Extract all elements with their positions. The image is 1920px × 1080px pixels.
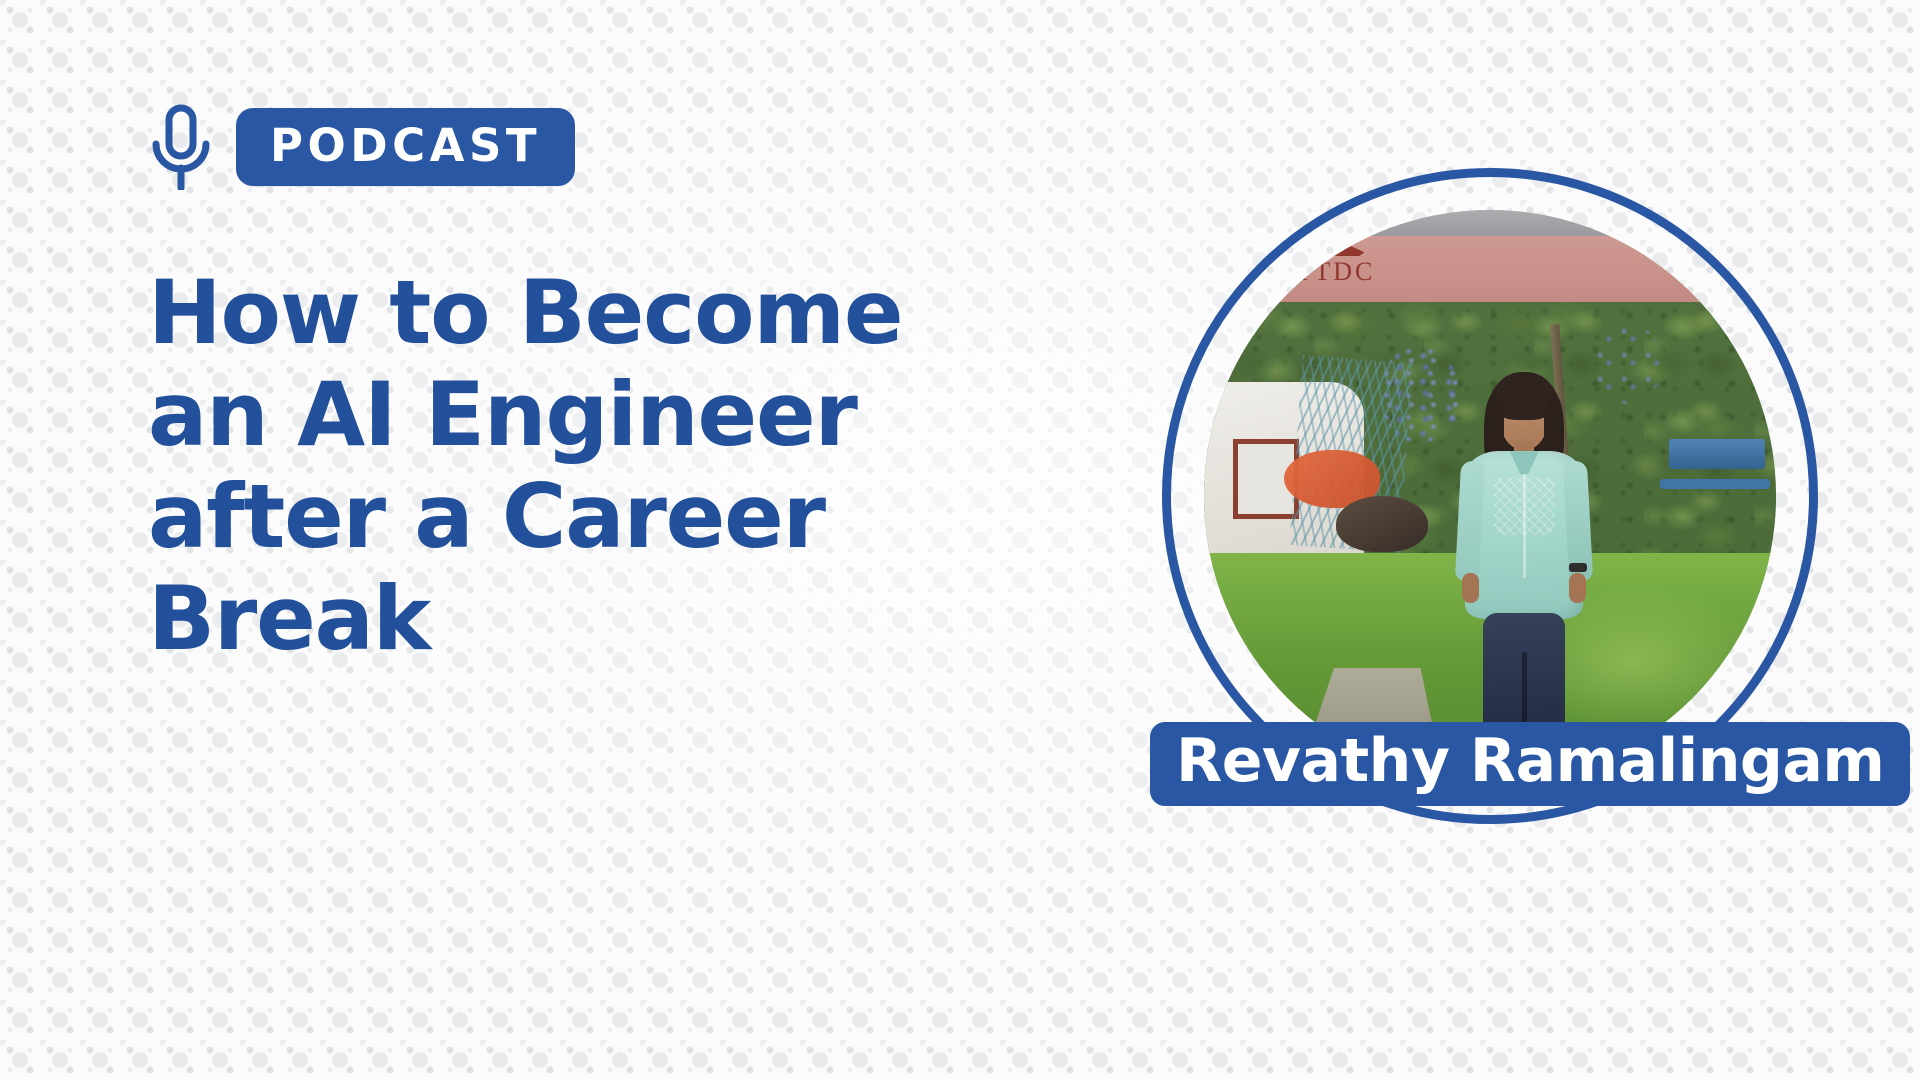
episode-title-line-1: How to Become [148,262,1078,364]
subject-kurti-neckline [1509,451,1539,475]
podcast-badge-label: PODCAST [270,123,541,168]
left-content-column: PODCAST How to Become an AI Engineer aft… [148,104,1158,729]
subject-hand-left [1462,573,1479,603]
photo-blue-railing [1669,439,1765,469]
episode-title-line-3: after a Career [148,466,1078,568]
microphone-icon [148,104,214,190]
subject-wristwatch [1569,563,1587,572]
podcast-badge-row: PODCAST [148,104,1158,190]
guest-photo: TTDC [1204,210,1776,782]
episode-title-line-2: an AI Engineer [148,364,1078,466]
ttdc-signage-text: TTDC [1296,257,1376,286]
guest-name-label: Revathy Ramalingam [1176,731,1884,791]
episode-title: How to Become an AI Engineer after a Car… [148,262,1078,670]
subject-kurti-placket [1523,474,1526,578]
subject-hand-right [1569,573,1586,603]
photo-wall-strip [1364,210,1650,236]
guest-name-banner: Revathy Ramalingam [1150,722,1910,806]
photo-subject-person [1456,364,1593,764]
podcast-cover-poster: PODCAST How to Become an AI Engineer aft… [0,0,1920,1080]
photo-blue-railing-lower [1660,479,1770,489]
photo-dark-rock [1336,496,1428,552]
photo-flower-patch-right [1593,324,1663,404]
ttdc-signage: TTDC [1296,241,1376,285]
podcast-badge[interactable]: PODCAST [236,108,575,186]
ttdc-roof-icon [1306,241,1364,256]
photo-scene: TTDC [1204,210,1776,782]
guest-portrait-block: TTDC [1162,168,1852,868]
episode-title-line-4: Break [148,568,1078,670]
